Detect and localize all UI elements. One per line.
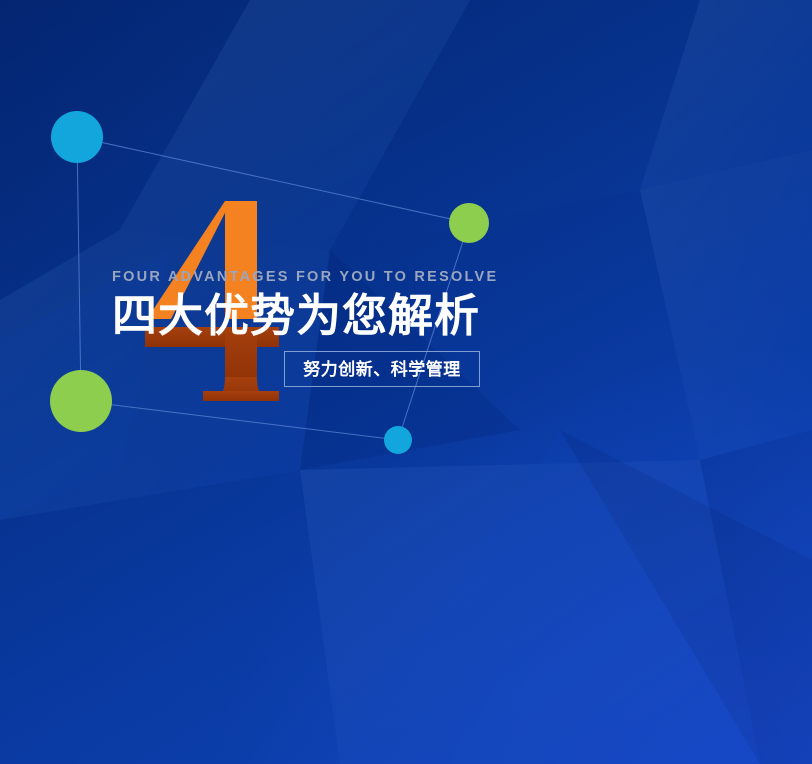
node-cyan-small — [384, 426, 412, 454]
eyebrow-text: FOUR ADVANTAGES FOR YOU TO RESOLVE — [112, 270, 712, 285]
node-green-small — [449, 203, 489, 243]
node-cyan-large — [51, 111, 103, 163]
promo-banner: FOUR ADVANTAGES FOR YOU TO RESOLVE 四大优势为… — [0, 0, 812, 764]
text-block: FOUR ADVANTAGES FOR YOU TO RESOLVE 四大优势为… — [112, 270, 712, 340]
tagline-box: 努力创新、科学管理 — [284, 351, 480, 387]
node-green-large — [50, 370, 112, 432]
tagline-text: 努力创新、科学管理 — [303, 361, 461, 378]
page-title: 四大优势为您解析 — [112, 292, 712, 341]
